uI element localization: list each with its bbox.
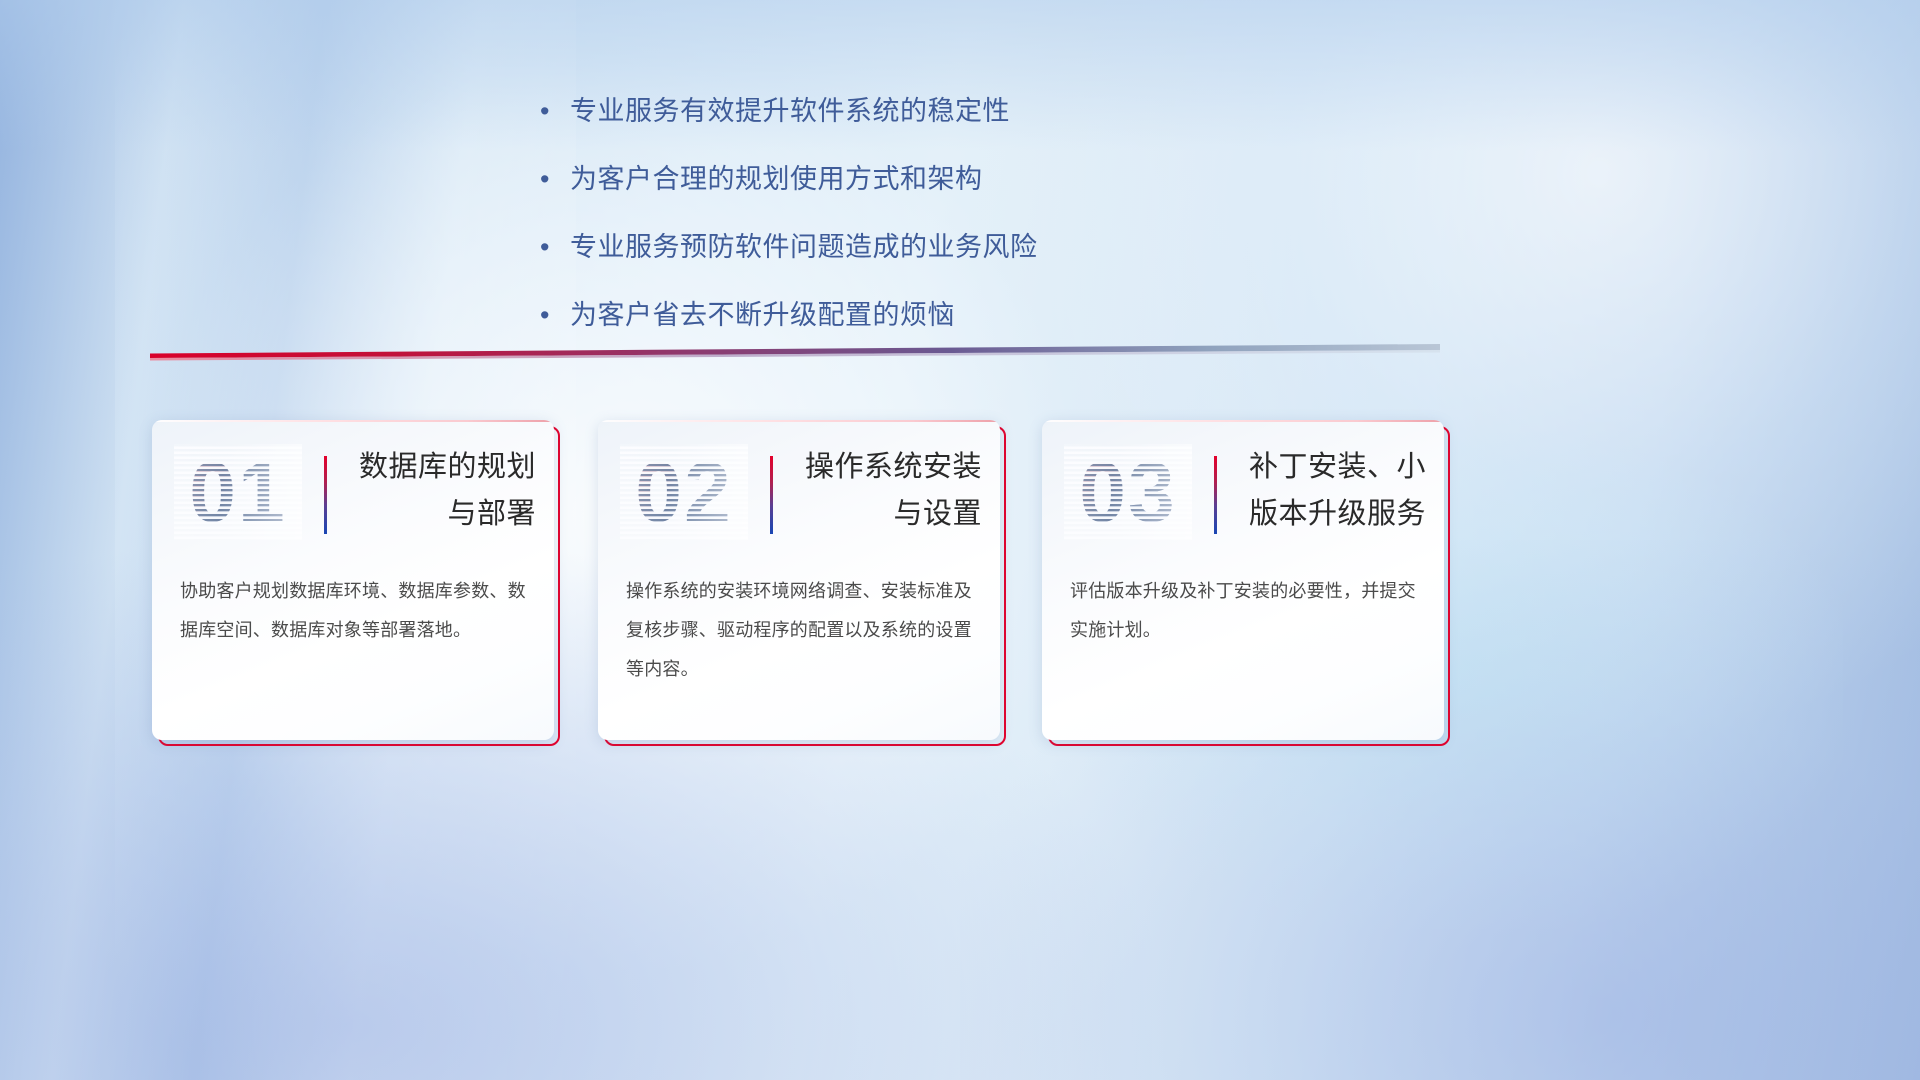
bullet-text: 专业服务预防软件问题造成的业务风险 bbox=[570, 224, 1038, 270]
bullet-text: 为客户合理的规划使用方式和架构 bbox=[570, 156, 983, 202]
card-number-watermark: 01 bbox=[174, 444, 302, 540]
card-number-watermark: 03 bbox=[1064, 444, 1192, 540]
feature-card[interactable]: 03 补丁安装、小版本升级服务 评估版本升级及补丁安装的必要性，并提交实施计划。 bbox=[1042, 420, 1444, 740]
feature-card[interactable]: 01 数据库的规划与部署 协助客户规划数据库环境、数据库参数、数据库空间、数据库… bbox=[152, 420, 554, 740]
card-accent-bar bbox=[770, 456, 773, 534]
card-surface[interactable]: 02 操作系统安装与设置 操作系统的安装环境网络调查、安装标准及复核步骤、驱动程… bbox=[598, 420, 1000, 740]
bullet-item: • 为客户省去不断升级配置的烦恼 bbox=[540, 292, 1180, 338]
card-body-text: 协助客户规划数据库环境、数据库参数、数据库空间、数据库对象等部署落地。 bbox=[180, 572, 530, 650]
card-title: 数据库的规划与部署 bbox=[348, 444, 536, 538]
divider-shape-icon bbox=[150, 342, 1440, 364]
card-accent-bar bbox=[1214, 456, 1217, 534]
bullet-text: 为客户省去不断升级配置的烦恼 bbox=[570, 292, 955, 338]
card-body-text: 操作系统的安装环境网络调查、安装标准及复核步骤、驱动程序的配置以及系统的设置等内… bbox=[626, 572, 976, 689]
bullet-item: • 专业服务有效提升软件系统的稳定性 bbox=[540, 88, 1180, 134]
section-divider bbox=[150, 342, 1440, 364]
feature-card-row: 01 数据库的规划与部署 协助客户规划数据库环境、数据库参数、数据库空间、数据库… bbox=[0, 420, 1920, 760]
bullet-marker-icon: • bbox=[540, 156, 570, 202]
bullet-text: 专业服务有效提升软件系统的稳定性 bbox=[570, 88, 1010, 134]
card-title: 补丁安装、小版本升级服务 bbox=[1238, 444, 1426, 538]
bullet-marker-icon: • bbox=[540, 224, 570, 270]
bullet-list: • 专业服务有效提升软件系统的稳定性 • 为客户合理的规划使用方式和架构 • 专… bbox=[540, 88, 1180, 360]
card-surface[interactable]: 03 补丁安装、小版本升级服务 评估版本升级及补丁安装的必要性，并提交实施计划。 bbox=[1042, 420, 1444, 740]
card-number-watermark: 02 bbox=[620, 444, 748, 540]
bullet-marker-icon: • bbox=[540, 88, 570, 134]
bullet-item: • 为客户合理的规划使用方式和架构 bbox=[540, 156, 1180, 202]
feature-card[interactable]: 02 操作系统安装与设置 操作系统的安装环境网络调查、安装标准及复核步骤、驱动程… bbox=[598, 420, 1000, 740]
card-surface[interactable]: 01 数据库的规划与部署 协助客户规划数据库环境、数据库参数、数据库空间、数据库… bbox=[152, 420, 554, 740]
bullet-marker-icon: • bbox=[540, 292, 570, 338]
card-title: 操作系统安装与设置 bbox=[794, 444, 982, 538]
card-accent-bar bbox=[324, 456, 327, 534]
card-body-text: 评估版本升级及补丁安装的必要性，并提交实施计划。 bbox=[1070, 572, 1420, 650]
bullet-item: • 专业服务预防软件问题造成的业务风险 bbox=[540, 224, 1180, 270]
